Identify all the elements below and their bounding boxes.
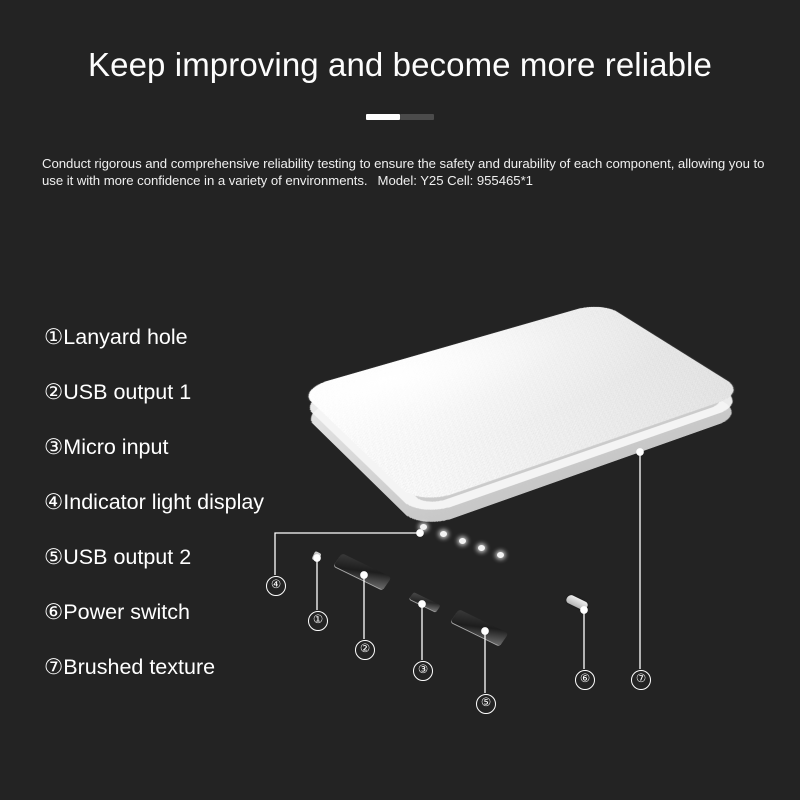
legend-label-2: USB output 1 — [63, 380, 191, 405]
legend-number-7: ⑦ — [44, 655, 63, 680]
legend-label-6: Power switch — [63, 600, 190, 625]
legend-item-usb-output-2[interactable]: ⑤USB output 2 — [44, 545, 344, 600]
power-bank-body — [298, 302, 746, 505]
led-dot — [420, 524, 427, 530]
legend-number-6: ⑥ — [44, 600, 63, 625]
legend-item-indicator-light-display[interactable]: ④Indicator light display — [44, 490, 344, 545]
led-dot — [440, 531, 447, 537]
legend-number-5: ⑤ — [44, 545, 63, 570]
legend-label-4: Indicator light display — [63, 490, 264, 515]
callout-marker-3[interactable]: ③ — [413, 661, 433, 681]
callout-marker-2[interactable]: ② — [355, 640, 375, 660]
callout-marker-6[interactable]: ⑥ — [575, 670, 595, 690]
led-dot — [478, 545, 485, 551]
legend-number-4: ④ — [44, 490, 63, 515]
legend-number-2: ② — [44, 380, 63, 405]
callout-marker-5[interactable]: ⑤ — [476, 694, 496, 714]
led-dot — [497, 552, 504, 558]
led-dot — [459, 538, 466, 544]
legend-label-3: Micro input — [63, 435, 168, 460]
legend-label-7: Brushed texture — [63, 655, 215, 680]
callout-marker-7[interactable]: ⑦ — [631, 670, 651, 690]
feature-legend-list: ① Lanyard hole ②USB output 1 ③Micro inpu… — [44, 325, 344, 710]
legend-number-1: ① — [44, 325, 63, 350]
product-infographic: Keep improving and become more reliable … — [0, 0, 800, 800]
legend-item-lanyard-hole[interactable]: ① Lanyard hole — [44, 325, 344, 380]
legend-item-power-switch[interactable]: ⑥Power switch — [44, 600, 344, 655]
legend-label-1: Lanyard hole — [63, 325, 187, 350]
legend-number-3: ③ — [44, 435, 63, 460]
legend-item-brushed-texture[interactable]: ⑦Brushed texture — [44, 655, 344, 710]
legend-item-usb-output-1[interactable]: ②USB output 1 — [44, 380, 344, 435]
legend-label-5: USB output 2 — [63, 545, 191, 570]
power-bank-device — [300, 250, 770, 680]
legend-item-micro-input[interactable]: ③Micro input — [44, 435, 344, 490]
